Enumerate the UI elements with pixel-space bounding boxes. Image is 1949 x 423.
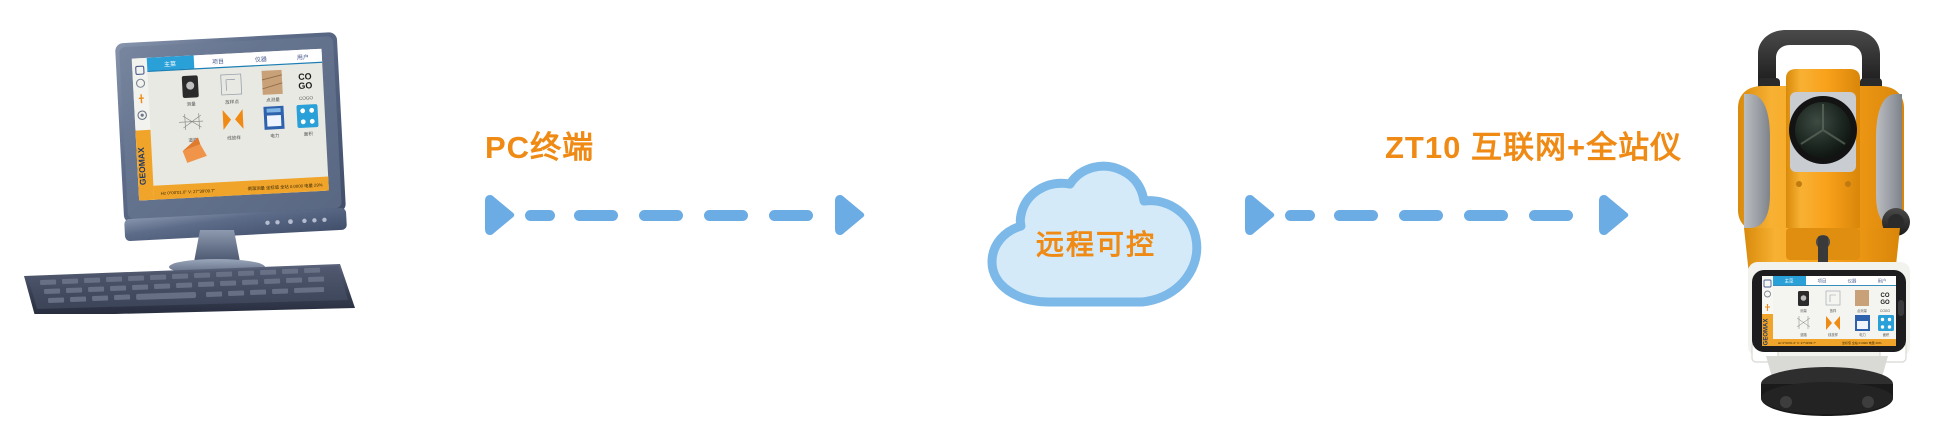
dash-segment [1464, 210, 1508, 221]
svg-text:项目: 项目 [212, 58, 224, 66]
tribrach-base [1761, 356, 1893, 416]
arrow-left-head [485, 195, 514, 235]
pc-device-name: desktop-computer [370, 24, 371, 25]
phone-power-button[interactable] [1898, 300, 1904, 316]
svg-text:仪器: 仪器 [255, 56, 267, 64]
total-station-illustration: GEOMAX 主菜 项目 仪器 用户 测量 放样 [1700, 12, 1944, 418]
dash-segment [1529, 210, 1573, 221]
svg-text:主菜: 主菜 [1785, 278, 1794, 285]
arrow-left-head [1245, 195, 1274, 235]
svg-text:面积: 面积 [1883, 332, 1890, 337]
svg-text:GO: GO [1880, 300, 1890, 306]
dash-segment [1399, 210, 1443, 221]
dash-segment [1334, 210, 1378, 221]
desktop-computer-illustration: GEOMAX 主菜 项目 仪器 用户 测量 [10, 24, 370, 314]
svg-text:CO: CO [1881, 293, 1890, 299]
monitor-stand-neck [194, 230, 240, 262]
svg-text:COGO: COGO [1880, 309, 1891, 313]
svg-text:测量: 测量 [1800, 308, 1807, 313]
svg-text:电力: 电力 [1859, 332, 1866, 337]
dash-segment [574, 210, 618, 221]
svg-text:COGO: COGO [299, 95, 314, 101]
svg-text:GEOMAX: GEOMAX [1764, 319, 1770, 346]
svg-text:GO: GO [298, 80, 313, 91]
arrow-right-head [1599, 195, 1628, 235]
dash-segment [704, 210, 748, 221]
total-station-device-name: total-station-with-smartphone [1944, 12, 1945, 13]
dash-segment [1285, 210, 1315, 221]
arrow-right-head [835, 195, 864, 235]
keyboard[interactable] [24, 264, 355, 314]
connector-cloud-to-station [1212, 192, 1704, 238]
svg-text:Hz 0°00'01.0" V: 27°39'09.7": Hz 0°00'01.0" V: 27°39'09.7" [1778, 341, 1816, 345]
svg-text:用户: 用户 [1878, 278, 1887, 285]
total-station-device: GEOMAX 主菜 项目 仪器 用户 测量 放样 [1700, 12, 1944, 418]
cloud-node: 远程可控 [968, 160, 1224, 310]
svg-text:点测量: 点测量 [1857, 308, 1868, 313]
svg-text:线放样: 线放样 [1828, 332, 1839, 337]
dash-segment [639, 210, 683, 221]
pc-terminal-device: GEOMAX 主菜 项目 仪器 用户 测量 [10, 24, 370, 314]
screen-brand-label: GEOMAX [136, 147, 148, 186]
svg-text:放样: 放样 [1830, 308, 1837, 313]
dash-segment [769, 210, 813, 221]
dash-segment [525, 210, 555, 221]
total-station-label: ZT10 互联网+全站仪 [1385, 122, 1682, 167]
svg-text:道路: 道路 [1800, 332, 1807, 337]
svg-text:坐标值 全站 0.0000 电量 29%: 坐标值 全站 0.0000 电量 29% [1842, 340, 1882, 345]
cloud-label: 远程可控 [968, 160, 1224, 310]
diagram-canvas: GEOMAX 主菜 项目 仪器 用户 测量 [0, 0, 1949, 418]
pc-terminal-label: PC终端 [485, 122, 594, 167]
connector-pc-to-cloud [452, 192, 942, 238]
smartphone[interactable]: GEOMAX 主菜 项目 仪器 用户 测量 放样 [1752, 270, 1906, 352]
